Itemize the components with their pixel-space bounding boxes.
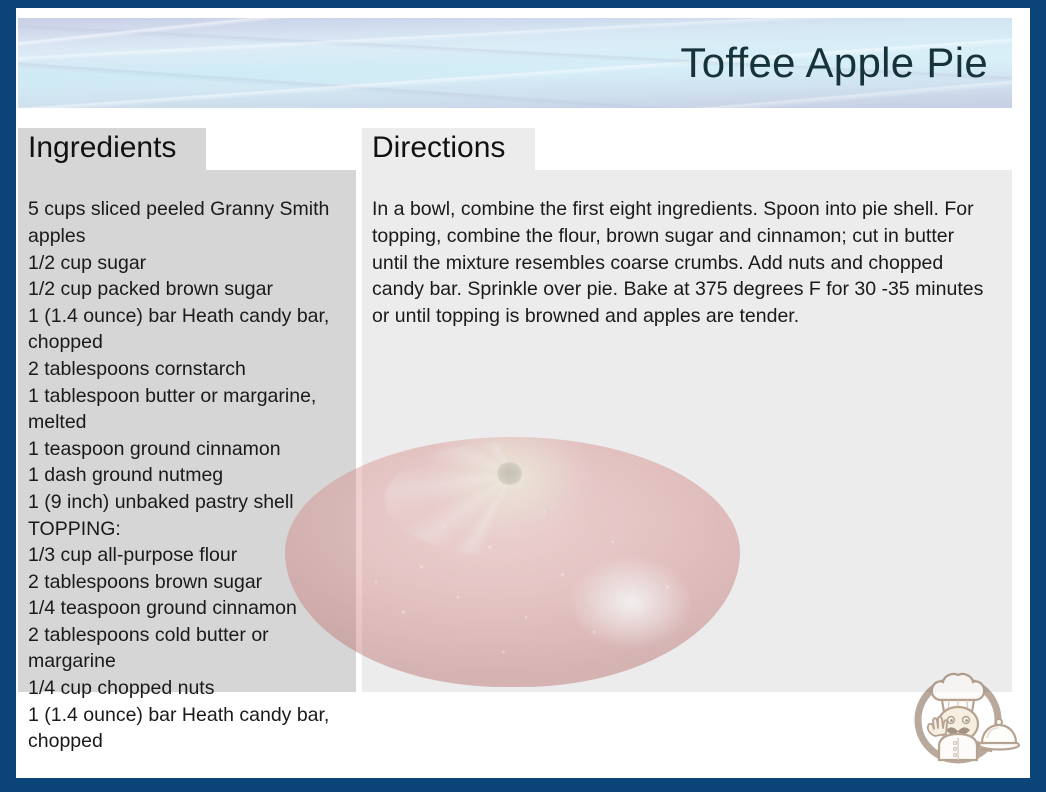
list-item: 1/2 cup sugar <box>28 250 344 277</box>
list-item: 1 (9 inch) unbaked pastry shell <box>28 489 344 516</box>
list-item: 1/3 cup all-purpose flour <box>28 542 344 569</box>
list-item: 2 tablespoons cold butter or margarine <box>28 622 344 675</box>
ingredients-list: 5 cups sliced peeled Granny Smith apples… <box>18 170 356 692</box>
list-item: 2 tablespoons cornstarch <box>28 356 344 383</box>
ingredients-heading: Ingredients <box>18 128 206 170</box>
directions-text: In a bowl, combine the first eight ingre… <box>372 196 986 329</box>
list-item: 1 (1.4 ounce) bar Heath candy bar, chopp… <box>28 303 344 356</box>
border-right <box>1030 0 1046 792</box>
list-item: 1 tablespoon butter or margarine, melted <box>28 383 344 436</box>
list-item: 1/4 cup chopped nuts <box>28 675 344 702</box>
list-item: 1/4 teaspoon ground cinnamon <box>28 595 344 622</box>
list-item: 1/2 cup packed brown sugar <box>28 276 344 303</box>
list-item: TOPPING: <box>28 516 344 543</box>
list-item: 1 dash ground nutmeg <box>28 462 344 489</box>
list-item: 5 cups sliced peeled Granny Smith apples <box>28 196 344 249</box>
border-left <box>0 0 16 792</box>
header-banner: Toffee Apple Pie <box>18 18 1012 108</box>
list-item: 1 (1.4 ounce) bar Heath candy bar, chopp… <box>28 702 344 755</box>
recipe-card: Toffee Apple Pie Ingredients 5 cups slic… <box>0 0 1046 792</box>
border-bottom <box>0 778 1046 792</box>
list-item: 1 teaspoon ground cinnamon <box>28 436 344 463</box>
ingredients-panel: Ingredients 5 cups sliced peeled Granny … <box>18 128 356 692</box>
list-item: 2 tablespoons brown sugar <box>28 569 344 596</box>
directions-body: In a bowl, combine the first eight ingre… <box>362 170 1012 692</box>
directions-panel: Directions In a bowl, combine the first … <box>362 128 1012 692</box>
border-top <box>0 0 1046 8</box>
page-title: Toffee Apple Pie <box>680 42 988 84</box>
directions-heading: Directions <box>362 128 535 170</box>
